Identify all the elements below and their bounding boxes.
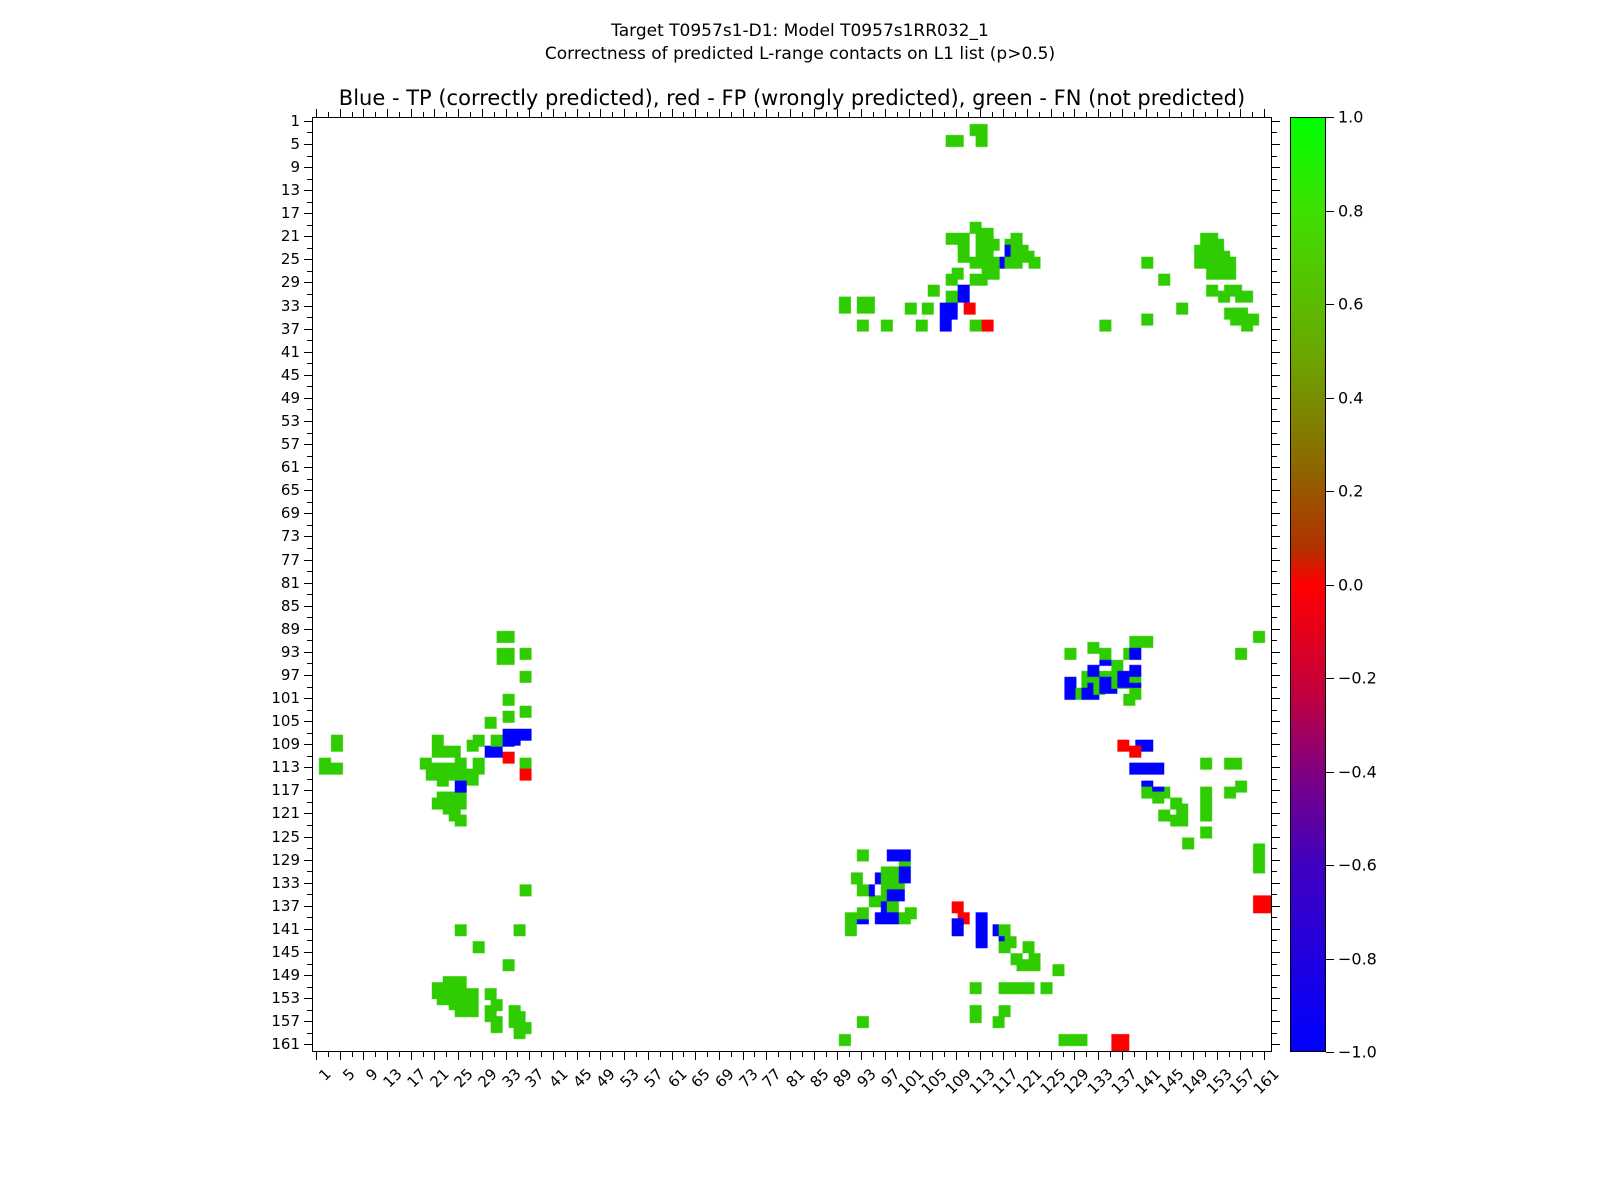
colorbar-tick [1326,865,1334,866]
y-tick [304,975,313,976]
x-tick-top [1039,112,1040,118]
x-tick [553,1051,554,1060]
y-tick [304,652,313,653]
x-axis-tick-label: 93 [854,1065,880,1091]
y-tick [307,433,313,434]
contact-map-plot: 1591317212529333741454953576165697377818… [312,117,1272,1052]
x-tick-top [778,112,779,118]
y-axis-tick-label: 97 [281,666,300,684]
x-tick-top [707,112,708,118]
x-tick-top [1264,109,1265,118]
y-tick-right [1271,802,1277,803]
x-tick [482,1051,483,1060]
colorbar-tick-label: −0.2 [1338,669,1377,688]
x-tick-top [1146,109,1147,118]
chart-subtitle: Correctness of predicted L-range contact… [0,43,1600,66]
y-tick-right [1271,964,1277,965]
y-tick-right [1271,663,1277,664]
y-tick-right [1271,375,1280,376]
x-tick-top [956,109,957,118]
y-axis-tick-label: 89 [281,620,300,638]
y-tick [304,236,313,237]
x-tick [707,1051,708,1057]
x-tick [1181,1051,1182,1057]
y-tick [304,883,313,884]
x-tick [470,1051,471,1057]
x-tick [826,1051,827,1057]
y-tick-right [1271,363,1277,364]
x-tick-top [683,112,684,118]
colorbar-tick [1326,491,1334,492]
y-axis-tick-label: 101 [271,689,300,707]
x-tick-top [1252,112,1253,118]
x-tick-top [660,112,661,118]
y-tick-right [1271,860,1280,861]
x-tick [328,1051,329,1057]
x-tick-top [1098,109,1099,118]
colorbar-tick-label: 0.2 [1338,482,1363,501]
x-tick [861,1051,862,1060]
x-tick [352,1051,353,1057]
y-tick [307,179,313,180]
x-tick [1122,1051,1123,1060]
y-tick-right [1271,294,1277,295]
y-tick [304,259,313,260]
x-tick [1051,1051,1052,1060]
x-tick [600,1051,601,1060]
x-tick-top [600,109,601,118]
x-tick-top [1051,109,1052,118]
y-tick-right [1271,225,1277,226]
y-tick-right [1271,594,1277,595]
x-tick [375,1051,376,1057]
y-tick-right [1271,825,1277,826]
x-tick-top [589,112,590,118]
y-tick-right [1271,144,1280,145]
x-tick [1157,1051,1158,1057]
x-tick [434,1051,435,1060]
x-tick [1098,1051,1099,1060]
y-tick-right [1271,652,1280,653]
x-tick-top [802,112,803,118]
y-tick-right [1271,906,1280,907]
y-tick-right [1271,929,1280,930]
y-axis-tick-label: 129 [271,851,300,869]
y-axis-tick-label: 133 [271,874,300,892]
x-tick-top [849,112,850,118]
y-tick [307,617,313,618]
x-tick [695,1051,696,1060]
y-tick [304,467,313,468]
y-tick-right [1271,536,1280,537]
y-tick-right [1271,525,1277,526]
x-tick [411,1051,412,1060]
y-tick-right [1271,560,1280,561]
y-axis-tick-label: 69 [281,504,300,522]
x-tick [612,1051,613,1057]
page-title: Target T0957s1-D1: Model T0957s1RR032_1 [0,20,1600,43]
y-tick [304,998,313,999]
y-tick [304,698,313,699]
y-tick-right [1271,548,1277,549]
y-tick [304,929,313,930]
x-tick [363,1051,364,1060]
x-tick-top [458,109,459,118]
y-axis-tick-label: 41 [281,343,300,361]
colorbar-tick-label: −0.6 [1338,856,1377,875]
x-tick [743,1051,744,1060]
y-axis-tick-label: 5 [290,135,300,153]
x-tick-top [731,112,732,118]
y-tick-right [1271,271,1277,272]
x-tick-top [695,109,696,118]
y-axis-tick-label: 45 [281,366,300,384]
x-tick [849,1051,850,1057]
x-tick-top [446,112,447,118]
y-tick [307,964,313,965]
y-tick-right [1271,790,1280,791]
y-tick-right [1271,756,1277,757]
x-tick-top [411,109,412,118]
x-tick [517,1051,518,1057]
x-tick-top [790,109,791,118]
x-tick-top [672,109,673,118]
y-tick [304,444,313,445]
y-tick-right [1271,617,1277,618]
y-tick-right [1271,894,1277,895]
y-tick-right [1271,317,1277,318]
colorbar: 1.00.80.60.40.20.0−0.2−0.4−0.6−0.8−1.0 [1290,117,1326,1052]
x-tick [1015,1051,1016,1057]
colorbar-tick [1326,304,1334,305]
x-tick-top [399,112,400,118]
y-tick [307,456,313,457]
x-axis-tick-label: 53 [617,1065,643,1091]
x-axis-tick-label: 161 [1250,1065,1283,1098]
x-tick [1205,1051,1206,1057]
x-tick [897,1051,898,1057]
chart-legend-text: Blue - TP (correctly predicted), red - F… [312,86,1272,110]
x-tick [529,1051,530,1060]
x-tick-top [1193,109,1194,118]
x-tick [731,1051,732,1057]
y-tick-right [1271,433,1277,434]
y-tick [304,952,313,953]
x-tick [932,1051,933,1060]
y-tick-right [1271,917,1277,918]
y-axis-tick-label: 153 [271,989,300,1007]
y-tick [307,132,313,133]
x-tick-top [363,109,364,118]
y-axis-tick-label: 33 [281,297,300,315]
y-tick-right [1271,1033,1277,1034]
x-tick-top [1122,109,1123,118]
colorbar-tick-label: −1.0 [1338,1043,1377,1062]
x-tick [802,1051,803,1057]
y-tick [304,629,313,630]
y-tick [304,721,313,722]
y-tick-right [1271,744,1280,745]
x-tick [1146,1051,1147,1060]
x-tick-top [553,109,554,118]
x-tick [766,1051,767,1060]
x-tick [340,1051,341,1060]
y-axis-tick-label: 65 [281,481,300,499]
x-axis-tick-label: 9 [363,1065,382,1084]
y-tick-right [1271,329,1280,330]
y-tick [304,675,313,676]
x-tick [944,1051,945,1057]
y-axis-tick-label: 61 [281,458,300,476]
y-tick [304,513,313,514]
x-tick [1229,1051,1230,1057]
x-tick-top [1027,109,1028,118]
y-tick [307,1033,313,1034]
y-axis-tick-label: 137 [271,897,300,915]
x-tick-top [612,112,613,118]
x-tick [873,1051,874,1057]
x-axis-tick-label: 41 [545,1065,571,1091]
x-tick [672,1051,673,1060]
x-tick [316,1051,317,1060]
y-tick-right [1271,490,1280,491]
x-tick [577,1051,578,1060]
y-tick-right [1271,248,1277,249]
y-tick-right [1271,710,1277,711]
x-tick [423,1051,424,1057]
x-tick-top [434,109,435,118]
y-tick [304,790,313,791]
x-tick-top [719,109,720,118]
y-tick [304,167,313,168]
y-axis-tick-label: 21 [281,227,300,245]
x-tick-top [766,109,767,118]
y-tick-right [1271,352,1280,353]
x-tick [660,1051,661,1057]
y-tick-right [1271,571,1277,572]
x-tick [494,1051,495,1057]
y-tick-right [1271,883,1280,884]
y-tick [307,733,313,734]
x-tick-top [1134,112,1135,118]
y-tick [307,594,313,595]
x-tick [624,1051,625,1060]
y-axis-tick-label: 77 [281,551,300,569]
y-tick [307,1010,313,1011]
x-tick [1110,1051,1111,1057]
x-tick-top [743,109,744,118]
y-tick [304,306,313,307]
colorbar-tick [1326,117,1334,118]
x-tick [1074,1051,1075,1060]
y-tick [307,502,313,503]
colorbar-tick [1326,678,1334,679]
colorbar-tick [1326,211,1334,212]
x-tick-top [1074,109,1075,118]
colorbar-tick-label: 0.8 [1338,201,1363,220]
x-tick-top [909,109,910,118]
y-axis-tick-label: 29 [281,273,300,291]
x-tick [1169,1051,1170,1060]
y-tick [304,144,313,145]
y-tick-right [1271,421,1280,422]
y-tick [304,1021,313,1022]
y-tick [307,871,313,872]
contact-map-canvas [313,118,1271,1051]
y-tick [307,571,313,572]
y-tick-right [1271,848,1277,849]
y-tick-right [1271,409,1277,410]
y-axis-tick-label: 93 [281,643,300,661]
y-tick [304,190,313,191]
x-tick-top [1240,109,1241,118]
x-tick [1217,1051,1218,1060]
y-tick [304,560,313,561]
y-tick [307,894,313,895]
colorbar-tick-label: 0.0 [1338,575,1363,594]
y-tick-right [1271,687,1277,688]
x-tick-top [1015,112,1016,118]
x-tick-top [375,112,376,118]
y-tick [307,525,313,526]
x-tick-top [754,112,755,118]
y-tick-right [1271,940,1277,941]
x-tick [920,1051,921,1057]
x-tick-top [932,109,933,118]
y-tick-right [1271,871,1277,872]
x-tick-top [352,112,353,118]
y-tick-right [1271,640,1277,641]
x-tick-top [316,109,317,118]
y-tick-right [1271,190,1280,191]
y-tick-right [1271,179,1277,180]
x-tick [1086,1051,1087,1057]
y-tick-right [1271,213,1280,214]
x-tick-top [482,109,483,118]
x-axis-tick-label: 57 [640,1065,666,1091]
y-axis-tick-label: 37 [281,320,300,338]
y-tick [307,917,313,918]
x-tick [1027,1051,1028,1060]
x-tick-top [340,109,341,118]
y-tick-right [1271,467,1280,468]
y-axis-tick-label: 73 [281,527,300,545]
y-tick-right [1271,132,1277,133]
y-tick [307,548,313,549]
y-tick [304,906,313,907]
x-tick-top [1063,112,1064,118]
x-tick-top [1205,112,1206,118]
y-tick [304,213,313,214]
y-tick [304,375,313,376]
x-tick-top [992,112,993,118]
y-tick [307,202,313,203]
y-tick [307,940,313,941]
x-tick-top [577,109,578,118]
y-tick [307,756,313,757]
y-axis-tick-label: 113 [271,758,300,776]
y-tick [304,860,313,861]
y-tick-right [1271,121,1280,122]
y-axis-tick-label: 105 [271,712,300,730]
x-tick [956,1051,957,1060]
colorbar-gradient [1290,117,1326,1052]
y-tick-right [1271,998,1280,999]
x-tick [814,1051,815,1060]
x-tick [636,1051,637,1057]
y-axis-tick-label: 161 [271,1035,300,1053]
y-tick-right [1271,513,1280,514]
y-tick [304,767,313,768]
x-tick [909,1051,910,1060]
y-axis-tick-label: 109 [271,735,300,753]
x-tick [778,1051,779,1057]
y-axis-tick-label: 149 [271,966,300,984]
x-axis-tick-label: 29 [474,1065,500,1091]
x-tick [1134,1051,1135,1057]
x-tick [992,1051,993,1057]
y-tick-right [1271,398,1280,399]
x-axis-tick-label: 13 [380,1065,406,1091]
y-tick-right [1271,837,1280,838]
y-tick-right [1271,1021,1280,1022]
x-tick-top [648,109,649,118]
x-tick-top [506,109,507,118]
chart-title-block: Target T0957s1-D1: Model T0957s1RR032_1 … [0,20,1600,66]
y-tick-right [1271,236,1280,237]
y-tick-right [1271,479,1277,480]
x-tick [541,1051,542,1057]
y-tick-right [1271,606,1280,607]
y-tick-right [1271,767,1280,768]
y-tick-right [1271,675,1280,676]
y-tick [304,744,313,745]
y-axis-tick-label: 81 [281,574,300,592]
y-tick [307,248,313,249]
colorbar-tick [1326,585,1334,586]
y-tick-right [1271,975,1280,976]
x-tick [968,1051,969,1057]
colorbar-tick-label: −0.8 [1338,949,1377,968]
colorbar-tick [1326,772,1334,773]
x-axis-tick-label: 69 [711,1065,737,1091]
y-tick [307,825,313,826]
colorbar-tick [1326,959,1334,960]
x-tick [565,1051,566,1057]
x-tick [980,1051,981,1060]
x-tick-top [920,112,921,118]
y-axis-tick-label: 157 [271,1012,300,1030]
y-tick [307,640,313,641]
x-tick-top [624,109,625,118]
x-tick [506,1051,507,1060]
y-axis-tick-label: 125 [271,828,300,846]
y-tick [304,329,313,330]
y-tick [304,1044,313,1045]
x-tick-top [1181,112,1182,118]
y-tick-right [1271,259,1280,260]
y-tick [307,687,313,688]
x-tick-top [814,109,815,118]
y-tick [304,121,313,122]
y-tick-right [1271,282,1280,283]
y-tick [307,340,313,341]
x-tick-top [897,112,898,118]
x-tick-top [1157,112,1158,118]
y-tick-right [1271,202,1277,203]
x-tick [1240,1051,1241,1060]
y-tick-right [1271,306,1280,307]
